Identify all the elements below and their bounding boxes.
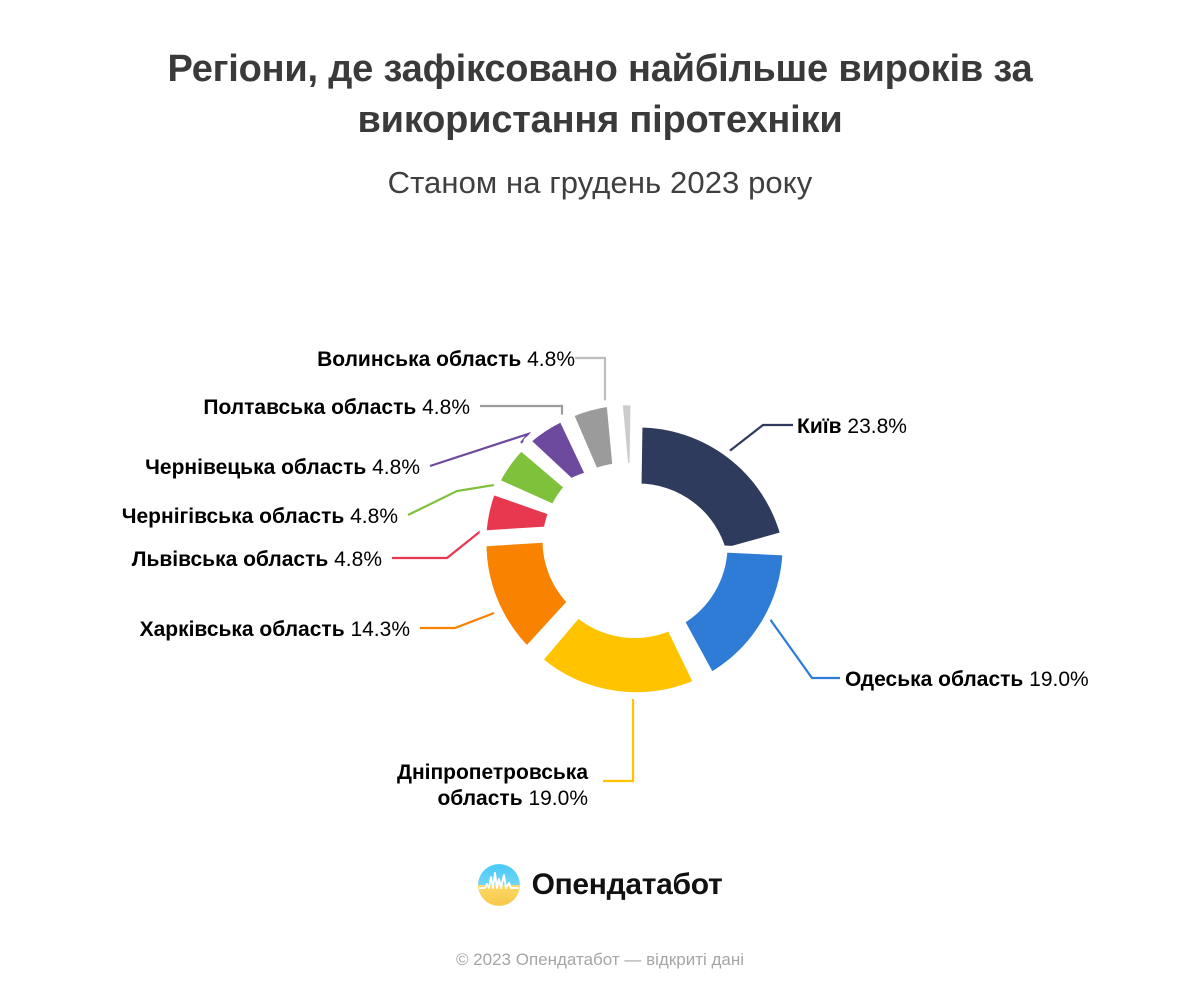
slice-label-odesa: Одеська область 19.0% <box>845 667 1089 693</box>
slice-label-chernivtsi: Чернівецька область 4.8% <box>145 455 420 481</box>
slice-label-odesa-name: Одеська область <box>845 668 1023 691</box>
slice-label-chernivtsi-pct: 4.8% <box>372 456 420 479</box>
opendatabot-logo-icon <box>478 864 520 906</box>
donut-segments <box>483 402 786 696</box>
page-subtitle: Станом на грудень 2023 року <box>0 165 1200 201</box>
segment-odesa <box>681 549 786 676</box>
donut-chart: Київ 23.8% Одеська область 19.0% Дніпроп… <box>0 330 1200 850</box>
donut-chart-svg <box>0 330 1200 850</box>
slice-label-poltava: Полтавська область 4.8% <box>203 395 470 421</box>
slice-label-poltava-name: Полтавська область <box>203 396 416 419</box>
brand-name: Опендатабот <box>532 868 723 902</box>
slice-label-lviv-name: Львівська область <box>132 548 329 571</box>
leader-line-kharkiv <box>420 613 494 628</box>
segment-dnipro <box>539 614 697 696</box>
slice-label-kharkiv-pct: 14.3% <box>350 618 410 641</box>
slice-label-volyn-pct: 4.8% <box>527 348 575 371</box>
slice-label-volyn-name: Волинська область <box>317 348 521 371</box>
page-title: Регіони, де зафіксовано найбільше вирокі… <box>160 44 1040 145</box>
slice-label-volyn: Волинська область 4.8% <box>317 347 575 373</box>
slice-label-kyiv-pct: 23.8% <box>847 415 907 438</box>
segment-kyiv <box>638 424 784 552</box>
header: Регіони, де зафіксовано найбільше вирокі… <box>0 44 1200 201</box>
slice-label-chernihiv: Чернігівська область 4.8% <box>122 504 398 530</box>
slice-label-dnipro-pct: 19.0% <box>528 787 588 810</box>
leader-line-poltava <box>480 406 562 422</box>
slice-label-lviv-pct: 4.8% <box>334 548 382 571</box>
infographic-page: Регіони, де зафіксовано найбільше вирокі… <box>0 0 1200 1000</box>
slice-label-poltava-pct: 4.8% <box>422 396 470 419</box>
footer-copyright: © 2023 Опендатабот — відкриті дані <box>0 950 1200 970</box>
slice-label-chernihiv-name: Чернігівська область <box>122 505 345 528</box>
slice-label-dnipro: Дніпропетровська область 19.0% <box>318 760 588 811</box>
slice-label-kyiv-name: Київ <box>797 415 842 438</box>
leader-line-lviv <box>392 530 482 558</box>
slice-label-kharkiv-name: Харківська область <box>140 618 345 641</box>
slice-label-kyiv: Київ 23.8% <box>797 414 907 440</box>
slice-label-chernihiv-pct: 4.8% <box>350 505 398 528</box>
slice-label-chernivtsi-name: Чернівецька область <box>145 456 366 479</box>
slice-label-odesa-pct: 19.0% <box>1029 668 1089 691</box>
opendatabot-mark-svg <box>478 864 520 906</box>
slice-label-kharkiv: Харківська область 14.3% <box>140 617 410 643</box>
brand-logo: Опендатабот <box>0 864 1200 906</box>
segment-volyn <box>619 402 634 467</box>
leader-line-kyiv <box>727 425 793 453</box>
leader-line-chernihiv <box>408 485 494 515</box>
slice-label-lviv: Львівська область 4.8% <box>132 547 382 573</box>
